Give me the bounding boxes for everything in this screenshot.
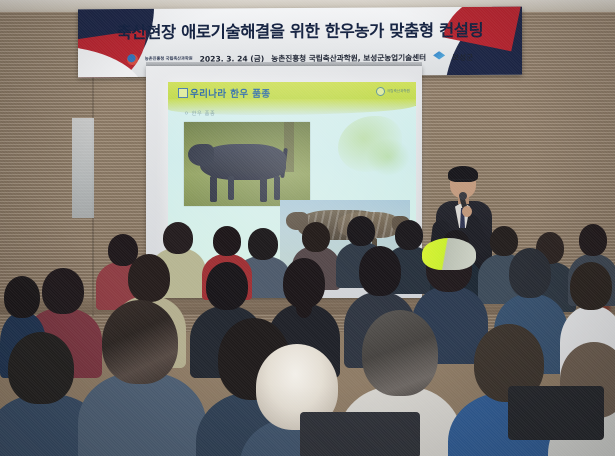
- slide-photo-black-cattle: [184, 122, 310, 206]
- black-cow-leg: [228, 176, 234, 200]
- chair-back: [300, 412, 420, 456]
- black-cow-leg: [210, 176, 217, 202]
- audience-head: [4, 276, 40, 318]
- audience-head: [163, 222, 193, 254]
- banner-title: 축산현장 애로기술해결을 위한 한우농가 맞춤형 컨설팅: [78, 17, 522, 44]
- boseong-logo-label: 보성군: [452, 51, 473, 62]
- audience-shoulders: [78, 372, 206, 456]
- slide-logo-label: 국립축산과학원: [387, 89, 410, 94]
- glasses-icon: [452, 179, 474, 185]
- rda-logo-icon: [127, 53, 138, 64]
- audience-head: [248, 228, 278, 260]
- audience-head: [509, 248, 551, 298]
- rda-logo-label: 농촌진흥청 국립축산과학원: [145, 56, 193, 61]
- audience-head: [8, 332, 74, 404]
- black-cow-leg: [260, 176, 267, 202]
- black-cow-head: [188, 144, 214, 166]
- slide-background-leaf-2: [366, 138, 410, 176]
- slide-subtitle: ㅇ 한우 품종: [184, 110, 215, 117]
- presenter-hand-holding-mic: [462, 206, 472, 217]
- audience-head: [206, 262, 248, 310]
- microphone-head-icon: [459, 192, 467, 200]
- audience-head-balding: [102, 300, 178, 384]
- audience-head: [570, 262, 612, 310]
- chair-back: [508, 386, 604, 440]
- slide-corner-logo: 국립축산과학원: [376, 87, 410, 96]
- audience-head: [302, 222, 330, 252]
- audience-head: [579, 224, 607, 256]
- slide-title: 우리나라 한우 품종: [190, 86, 271, 100]
- audience-head: [359, 246, 401, 296]
- audience-head-gray: [362, 310, 438, 396]
- audience-head: [128, 254, 170, 302]
- slide-logo-icon: [376, 87, 385, 96]
- audience-head: [213, 226, 241, 256]
- boseong-logo-icon: [433, 51, 445, 63]
- wall-light-strip: [72, 118, 94, 218]
- audience-head: [347, 216, 375, 246]
- neon-cap-icon: [422, 238, 476, 270]
- audience-ponytail: [296, 298, 312, 318]
- slide-title-bullet-icon: [178, 88, 188, 98]
- audience: [0, 236, 615, 456]
- audience-member: [78, 300, 206, 456]
- seminar-photo: 축산현장 애로기술해결을 위한 한우농가 맞춤형 컨설팅 농촌진흥청 국립축산과…: [0, 0, 615, 456]
- black-cow-leg: [274, 176, 280, 200]
